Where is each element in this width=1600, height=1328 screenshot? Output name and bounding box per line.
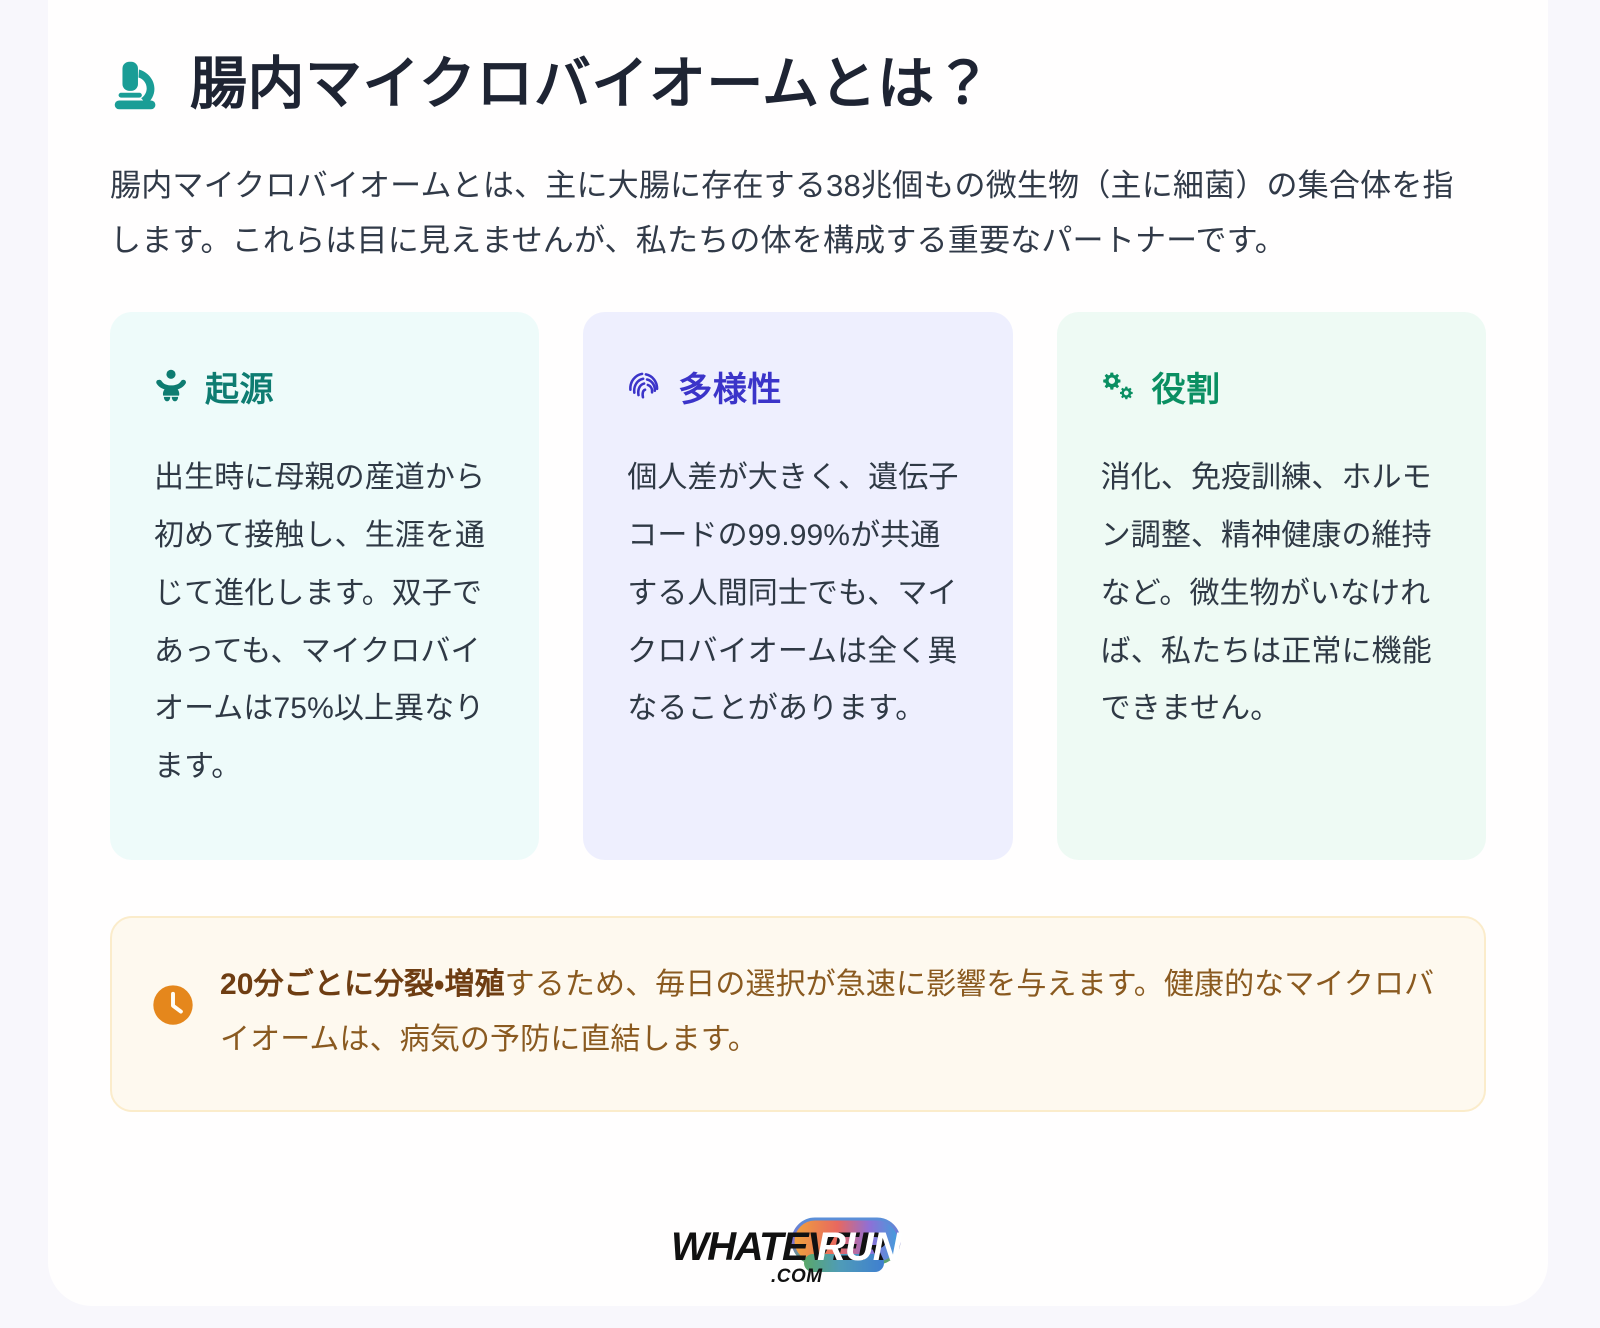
card-diversity: 多様性 個人差が大きく、遺伝子コードの99.99%が共通する人間同士でも、マイク… xyxy=(583,312,1012,860)
alert-text: 20分ごとに分裂・増殖するため、毎日の選択が急速に影響を与えます。健康的なマイク… xyxy=(220,958,1438,1068)
card-origin-title: 起源 xyxy=(205,362,274,411)
card-diversity-header: 多様性 xyxy=(627,362,968,411)
card-diversity-title: 多様性 xyxy=(678,362,782,411)
baby-icon xyxy=(154,369,188,403)
gears-icon xyxy=(1101,369,1135,403)
microscope-icon xyxy=(106,54,168,116)
card-origin-header: 起源 xyxy=(154,362,495,411)
card-origin: 起源 出生時に母親の産道から初めて接触し、生涯を通じて進化します。双子であっても… xyxy=(110,312,539,860)
intro-paragraph: 腸内マイクロバイオームとは、主に大腸に存在する38兆個もの微生物（主に細菌）の集… xyxy=(110,158,1478,268)
footer: WHATEVER RUN .COM xyxy=(48,1208,1548,1286)
feature-cards: 起源 出生時に母親の産道から初めて接触し、生涯を通じて進化します。双子であっても… xyxy=(110,312,1486,860)
fingerprint-icon xyxy=(627,369,661,403)
card-diversity-body: 個人差が大きく、遺伝子コードの99.99%が共通する人間同士でも、マイクロバイオ… xyxy=(627,449,968,738)
svg-text:.COM: .COM xyxy=(771,1266,823,1286)
content-panel: 腸内マイクロバイオームとは？ 腸内マイクロバイオームとは、主に大腸に存在する38… xyxy=(48,0,1548,1306)
page-heading: 腸内マイクロバイオームとは？ xyxy=(106,52,1490,118)
highlight-alert: 20分ごとに分裂・増殖するため、毎日の選択が急速に影響を与えます。健康的なマイク… xyxy=(110,916,1486,1112)
card-role-title: 役割 xyxy=(1152,362,1221,411)
alert-strong-text: 20分ごとに分裂・増殖 xyxy=(220,968,505,1001)
card-origin-body: 出生時に母親の産道から初めて接触し、生涯を通じて進化します。双子であっても、マイ… xyxy=(154,449,495,796)
page-title: 腸内マイクロバイオームとは？ xyxy=(190,52,992,118)
clock-icon xyxy=(152,984,194,1026)
card-role-body: 消化、免疫訓練、ホルモン調整、精神健康の維持など。微生物がいなければ、私たちは正… xyxy=(1101,449,1442,738)
whateverrun-logo[interactable]: WHATEVER RUN .COM xyxy=(663,1208,933,1286)
card-role: 役割 消化、免疫訓練、ホルモン調整、精神健康の維持など。微生物がいなければ、私た… xyxy=(1057,312,1486,860)
card-role-header: 役割 xyxy=(1101,362,1442,411)
svg-text:RUN: RUN xyxy=(817,1225,903,1269)
